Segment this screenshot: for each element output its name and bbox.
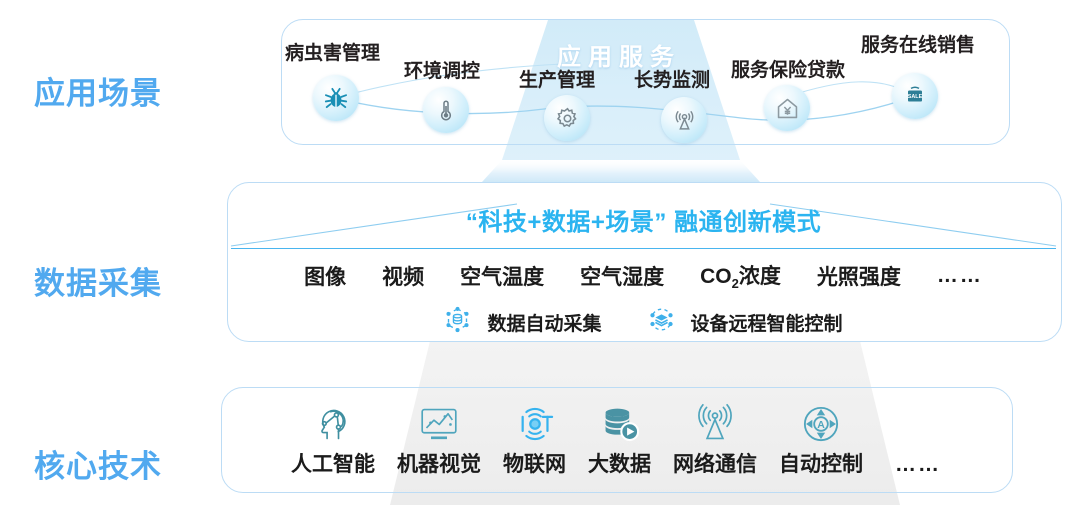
scene-node-label: 生产管理 [519, 65, 595, 92]
application-scene-content: 应用服务 病虫害管理 环境调控 [281, 19, 1008, 143]
data-item: 图像 [304, 261, 346, 291]
gear-icon [544, 95, 590, 141]
tech-item-ai[interactable]: 人工智能 [291, 399, 375, 478]
data-collection-content: “科技+数据+场景” 融通创新模式 图像 视频 空气温度 空气湿度 CO2浓度 … [227, 182, 1060, 340]
tech-item-label: 物联网 [503, 448, 566, 478]
sale-tag-icon: SALE [892, 73, 938, 119]
svg-text:SALE: SALE [908, 94, 923, 100]
tech-item-big-data[interactable]: 大数据 [588, 399, 651, 478]
tech-item-iot[interactable]: 物联网 [503, 399, 566, 478]
scene-node-label: 服务保险贷款 [731, 55, 845, 82]
core-technology-content: 人工智能 机器视觉 [221, 387, 1011, 491]
tech-item-label: 网络通信 [673, 448, 757, 478]
scene-node-label: 环境调控 [404, 56, 480, 83]
bug-icon [313, 75, 359, 121]
tech-item-label: 大数据 [588, 448, 651, 478]
scene-node-label: 病虫害管理 [285, 38, 380, 65]
tech-item-label: 人工智能 [291, 448, 375, 478]
data-divider [231, 248, 1056, 249]
thermometer-icon [423, 87, 469, 133]
tech-item-label: 自动控制 [779, 448, 863, 478]
data-capability-label: 数据自动采集 [487, 309, 601, 336]
monitor-chart-icon [417, 399, 461, 445]
database-network-icon [444, 306, 471, 339]
data-item-list: 图像 视频 空气温度 空气湿度 CO2浓度 光照强度 …… [227, 260, 1060, 291]
big-data-icon [599, 399, 641, 445]
svg-text:A: A [817, 419, 825, 431]
data-items-ellipsis: …… [937, 264, 983, 288]
iot-icon [514, 399, 556, 445]
tech-items-ellipsis: …… [895, 453, 941, 478]
data-panel-title: “科技+数据+场景” 融通创新模式 [227, 202, 1060, 237]
auto-control-icon: A [800, 399, 842, 445]
wireless-tower-icon [693, 399, 737, 445]
data-item: 光照强度 [817, 261, 901, 291]
tech-item-list: 人工智能 机器视觉 [221, 387, 1011, 491]
data-capability-list: 数据自动采集 设备远程智能控制 [227, 306, 1060, 339]
scene-node-label: 服务在线销售 [861, 30, 975, 57]
tech-item-machine-vision[interactable]: 机器视觉 [397, 399, 481, 478]
row-label-core-technology: 核心技术 [34, 441, 162, 486]
tech-item-auto-control[interactable]: A 自动控制 [779, 399, 863, 478]
data-item: 空气湿度 [580, 261, 664, 291]
row-label-data-collection: 数据采集 [34, 258, 162, 303]
ai-head-icon [312, 399, 354, 445]
layers-network-icon [648, 306, 675, 339]
data-capability-label: 设备远程智能控制 [691, 309, 843, 336]
funnel-blue-connector [482, 160, 760, 182]
row-label-application-scene: 应用场景 [34, 68, 162, 113]
data-item: 空气温度 [460, 261, 544, 291]
signal-tower-icon [661, 97, 707, 143]
data-item-co2: CO2浓度 [700, 260, 781, 291]
tech-item-label: 机器视觉 [397, 448, 481, 478]
infographic-stage: 应用场景 数据采集 核心技术 应用服务 病虫害管理 [0, 0, 1080, 512]
tech-item-network-comm[interactable]: 网络通信 [673, 399, 757, 478]
house-yuan-icon [764, 85, 810, 131]
scene-node-label: 长势监测 [634, 65, 710, 92]
data-item: 视频 [382, 261, 424, 291]
